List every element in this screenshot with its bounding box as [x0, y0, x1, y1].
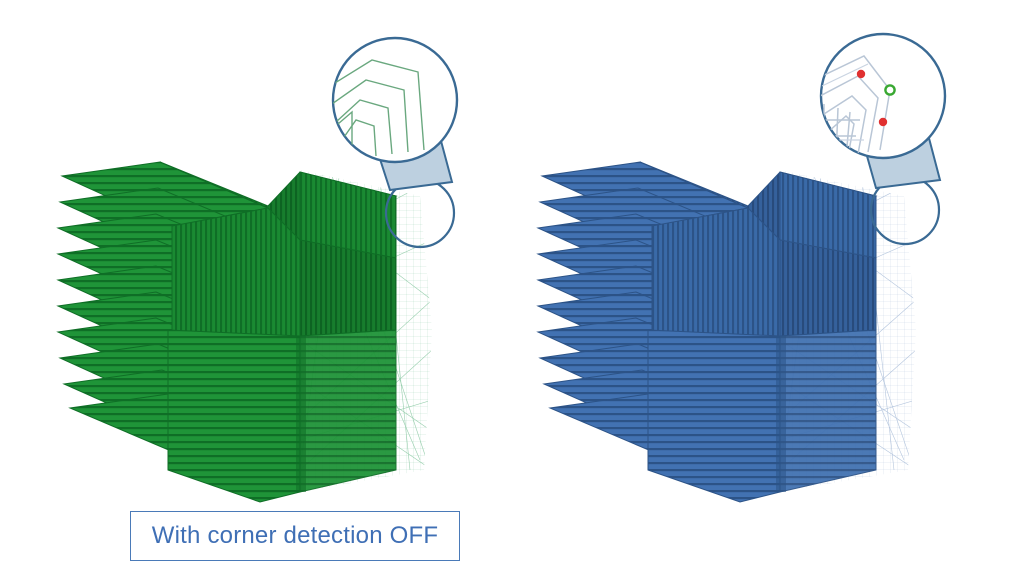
corner-marker-red-upper	[857, 70, 865, 78]
corner-marker-red-lower	[879, 118, 887, 126]
panel-corner-detection-on: With corner detection ON	[512, 0, 1024, 576]
caption-left-text: With corner detection OFF	[152, 522, 438, 550]
panel-corner-detection-off: With corner detection OFF	[0, 0, 512, 576]
caption-corner-detection-off: With corner detection OFF	[130, 511, 460, 561]
right-model-svg	[512, 0, 1024, 576]
figure-stage: With corner detection OFF	[0, 0, 1024, 576]
left-model-svg	[0, 0, 512, 576]
corner-marker-green-center	[885, 85, 894, 94]
